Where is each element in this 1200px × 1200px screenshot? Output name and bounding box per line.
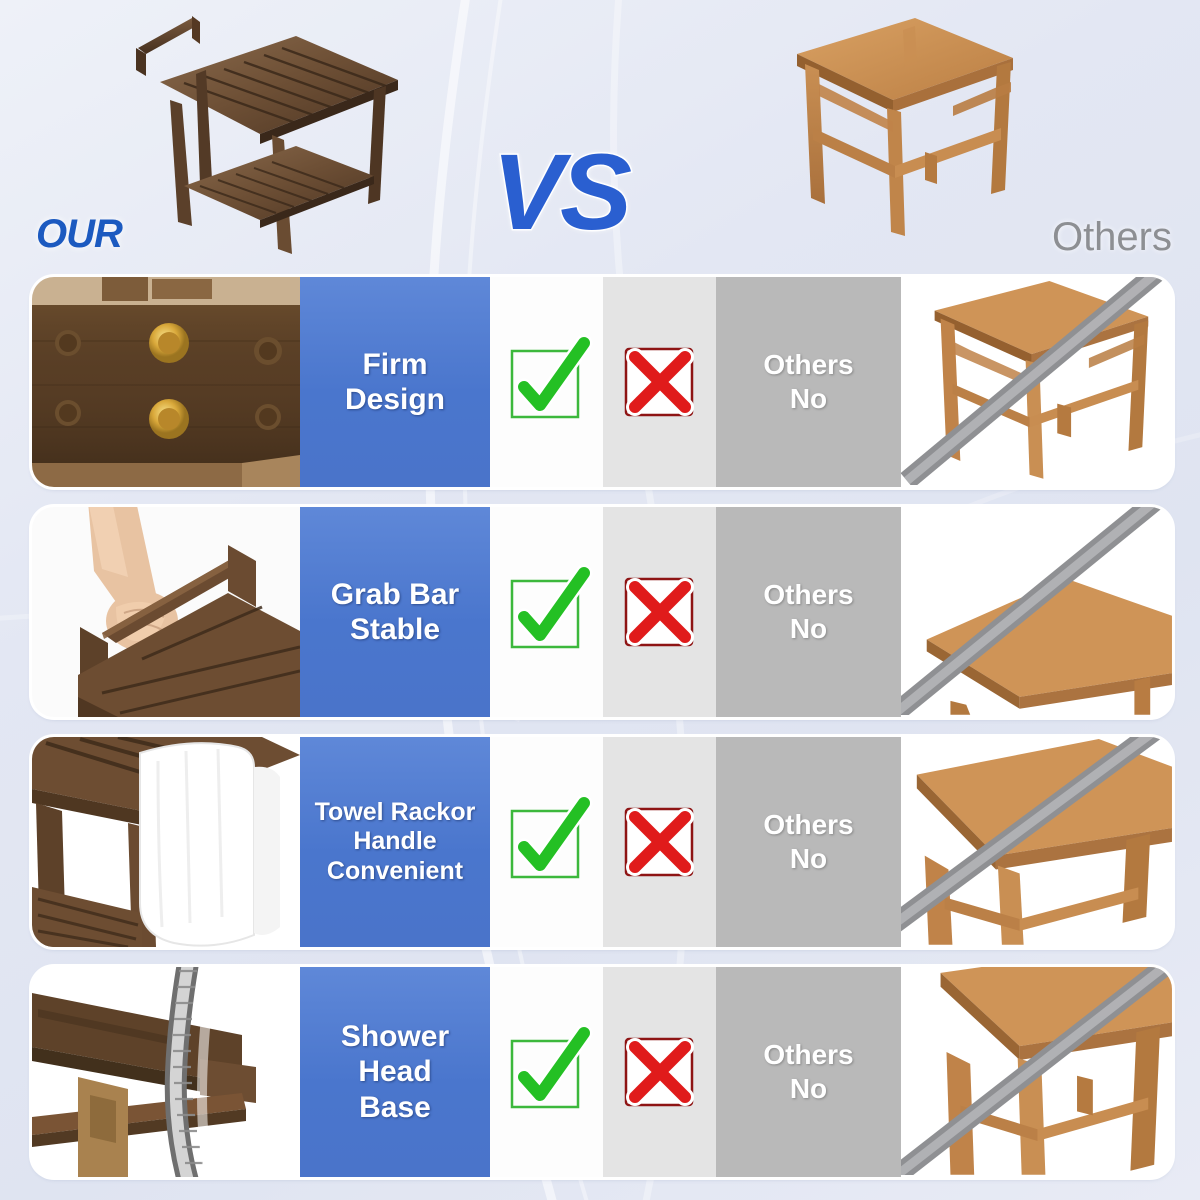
others-no-towel-rack: Others No (716, 737, 901, 947)
feature-label-firm-design: Firm Design (300, 277, 490, 487)
cross-icon (623, 345, 697, 419)
our-verdict-grab-bar (490, 507, 603, 717)
others-feature-photo-grab-bar (901, 507, 1172, 717)
others-verdict-line: Others (763, 578, 853, 612)
our-feature-photo-towel-rack (32, 737, 300, 947)
feature-label-shower-head: Shower Head Base (300, 967, 490, 1177)
our-verdict-towel-rack (490, 737, 603, 947)
feature-label-line: Firm (345, 347, 445, 382)
check-icon (510, 805, 584, 879)
our-feature-photo-shower-head (32, 967, 300, 1177)
others-feature-photo-firm-design (901, 277, 1172, 487)
feature-label-line: Grab Bar (331, 577, 459, 612)
others-verdict-shower-head (603, 967, 716, 1177)
header: VS (0, 0, 1200, 277)
feature-label-line: Towel Rackor (315, 798, 476, 828)
our-verdict-shower-head (490, 967, 603, 1177)
others-verdict-line: No (763, 1072, 853, 1106)
check-icon (510, 345, 584, 419)
others-no-grab-bar: Others No (716, 507, 901, 717)
others-verdict-line: No (763, 612, 853, 646)
others-verdict-line: Others (763, 808, 853, 842)
table-row: Firm Design (32, 277, 1172, 487)
cross-icon (623, 805, 697, 879)
others-feature-photo-towel-rack (901, 737, 1172, 947)
check-icon (510, 1035, 584, 1109)
feature-label-line: Design (345, 382, 445, 417)
others-label: Others (1052, 215, 1172, 260)
feature-label-line: Base (304, 1090, 486, 1125)
our-verdict-firm-design (490, 277, 603, 487)
our-feature-photo-grab-bar (32, 507, 300, 717)
table-row: Grab Bar Stable (32, 507, 1172, 717)
others-verdict-line: Others (763, 348, 853, 382)
feature-label-line: Shower Head (304, 1019, 486, 1090)
comparison-rows: Firm Design (32, 277, 1172, 1197)
cross-icon (623, 575, 697, 649)
comparison-infographic: VS (0, 0, 1200, 1200)
feature-label-line: Stable (331, 612, 459, 647)
others-feature-photo-shower-head (901, 967, 1172, 1177)
check-icon (510, 575, 584, 649)
vs-label: VS (492, 138, 628, 246)
feature-label-towel-rack: Towel Rackor Handle Convenient (300, 737, 490, 947)
cross-icon (623, 1035, 697, 1109)
feature-label-grab-bar: Grab Bar Stable (300, 507, 490, 717)
feature-label-line: Handle (315, 827, 476, 857)
others-verdict-line: Others (763, 1038, 853, 1072)
others-verdict-towel-rack (603, 737, 716, 947)
our-feature-photo-firm-design (32, 277, 300, 487)
others-no-shower-head: Others No (716, 967, 901, 1177)
others-verdict-grab-bar (603, 507, 716, 717)
our-product-image (100, 4, 420, 259)
table-row: Shower Head Base (32, 967, 1172, 1177)
others-verdict-line: No (763, 382, 853, 416)
others-no-firm-design: Others No (716, 277, 901, 487)
our-label: OUR (36, 212, 122, 257)
others-verdict-line: No (763, 842, 853, 876)
table-row: Towel Rackor Handle Convenient (32, 737, 1172, 947)
feature-label-line: Convenient (315, 857, 476, 887)
others-verdict-firm-design (603, 277, 716, 487)
others-product-image (775, 8, 1030, 243)
